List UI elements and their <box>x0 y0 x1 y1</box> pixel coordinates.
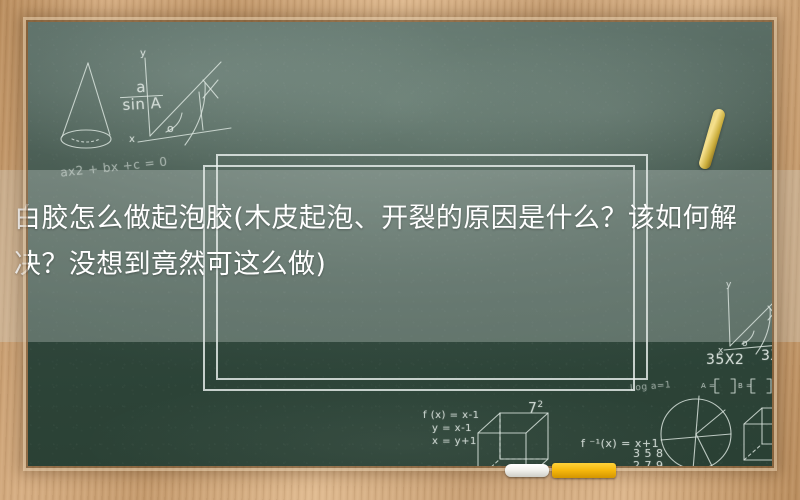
fraction-denominator: sin A <box>120 96 164 114</box>
page-title: 白胶怎么做起泡胶(木皮起泡、开裂的原因是什么？该如何解 决？没想到竟然可这么做) <box>14 196 794 288</box>
fraction-numerator: a <box>413 463 446 466</box>
log-note: Log a=1 <box>630 380 672 394</box>
matrix-brackets-b <box>750 378 772 394</box>
page-title-line-1: 白胶怎么做起泡胶(木皮起泡、开裂的原因是什么？该如何解 <box>14 196 794 242</box>
cone-drawing <box>52 57 122 167</box>
matrix-label-3x2: 3X2 <box>761 348 772 364</box>
angle-label-left: o <box>167 122 174 135</box>
matrix-term-a: A = <box>701 382 715 390</box>
chalkboard-scene: a sin A y x o ax2 + bx +c = 0 <box>0 0 800 500</box>
matrix-brackets-a <box>714 378 736 394</box>
white-chalk-stick[interactable] <box>505 464 549 477</box>
fraction-a-over-sinA-bottom-left: a sin A <box>413 463 446 466</box>
axis-label-y-left: y <box>140 48 146 59</box>
matrix-term-b: B = <box>738 382 752 390</box>
fraction-a-over-sinA-top: a sin A <box>119 79 164 114</box>
function-fx-note: f (x) = x-1 <box>423 410 480 421</box>
function-x-note: x = y+1 <box>432 436 477 447</box>
matrix-label-35x2: 35X2 <box>706 352 744 368</box>
axis-label-x-left: x <box>129 134 135 145</box>
yellow-eraser[interactable] <box>552 463 616 478</box>
cube-drawing-center <box>470 407 560 466</box>
page-title-line-2: 决？没想到竟然可这么做) <box>14 242 794 288</box>
angle-label-right: o <box>742 339 748 349</box>
function-y-note: y = x-1 <box>432 423 472 434</box>
circle-radius-diagram <box>653 394 739 466</box>
addition-row-2: 2 7 9 <box>633 459 664 466</box>
seven-squared-note: 72 <box>528 400 544 417</box>
seven-exponent: 2 <box>537 400 543 410</box>
seven-base: 7 <box>528 401 537 417</box>
yellow-chalk-stick[interactable] <box>698 108 727 171</box>
quadratic-equation-note: ax2 + bx +c = 0 <box>60 154 169 179</box>
cube-drawing-right <box>738 404 772 466</box>
